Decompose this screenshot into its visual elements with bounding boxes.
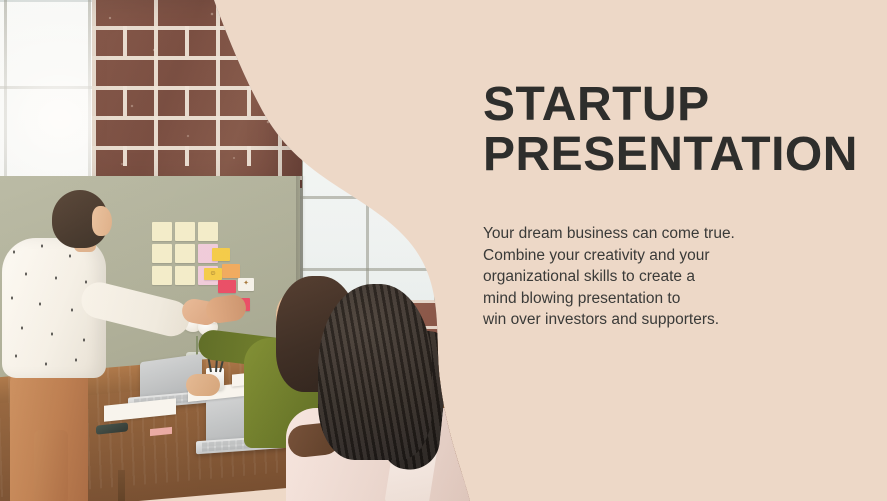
sticky-note <box>175 244 195 263</box>
blush-woman-hair <box>318 284 432 460</box>
sticky-note <box>152 222 172 241</box>
sticky-note <box>198 222 218 241</box>
standing-woman-face <box>92 206 112 236</box>
olive-woman-hand <box>186 374 220 396</box>
sticky-note <box>175 222 195 241</box>
brick-wall-texture <box>92 0 302 188</box>
text-column: STARTUP PRESENTATION Your dream business… <box>483 80 853 331</box>
sticky-note <box>152 244 172 263</box>
table-leg <box>118 470 125 501</box>
sticky-note <box>175 266 195 285</box>
page-title: STARTUP PRESENTATION <box>483 80 853 180</box>
presentation-slide: ☺ ✦ ♡ <box>0 0 887 501</box>
body-paragraph: Your dream business can come true. Combi… <box>483 180 853 331</box>
sticky-note <box>218 280 236 293</box>
standing-woman-leg <box>34 430 68 501</box>
sticky-note <box>222 264 240 278</box>
sticky-note-doodle: ✦ <box>238 278 254 291</box>
sticky-note-doodle: ☺ <box>204 268 222 280</box>
sticky-note <box>212 248 230 261</box>
sticky-note <box>152 266 172 285</box>
